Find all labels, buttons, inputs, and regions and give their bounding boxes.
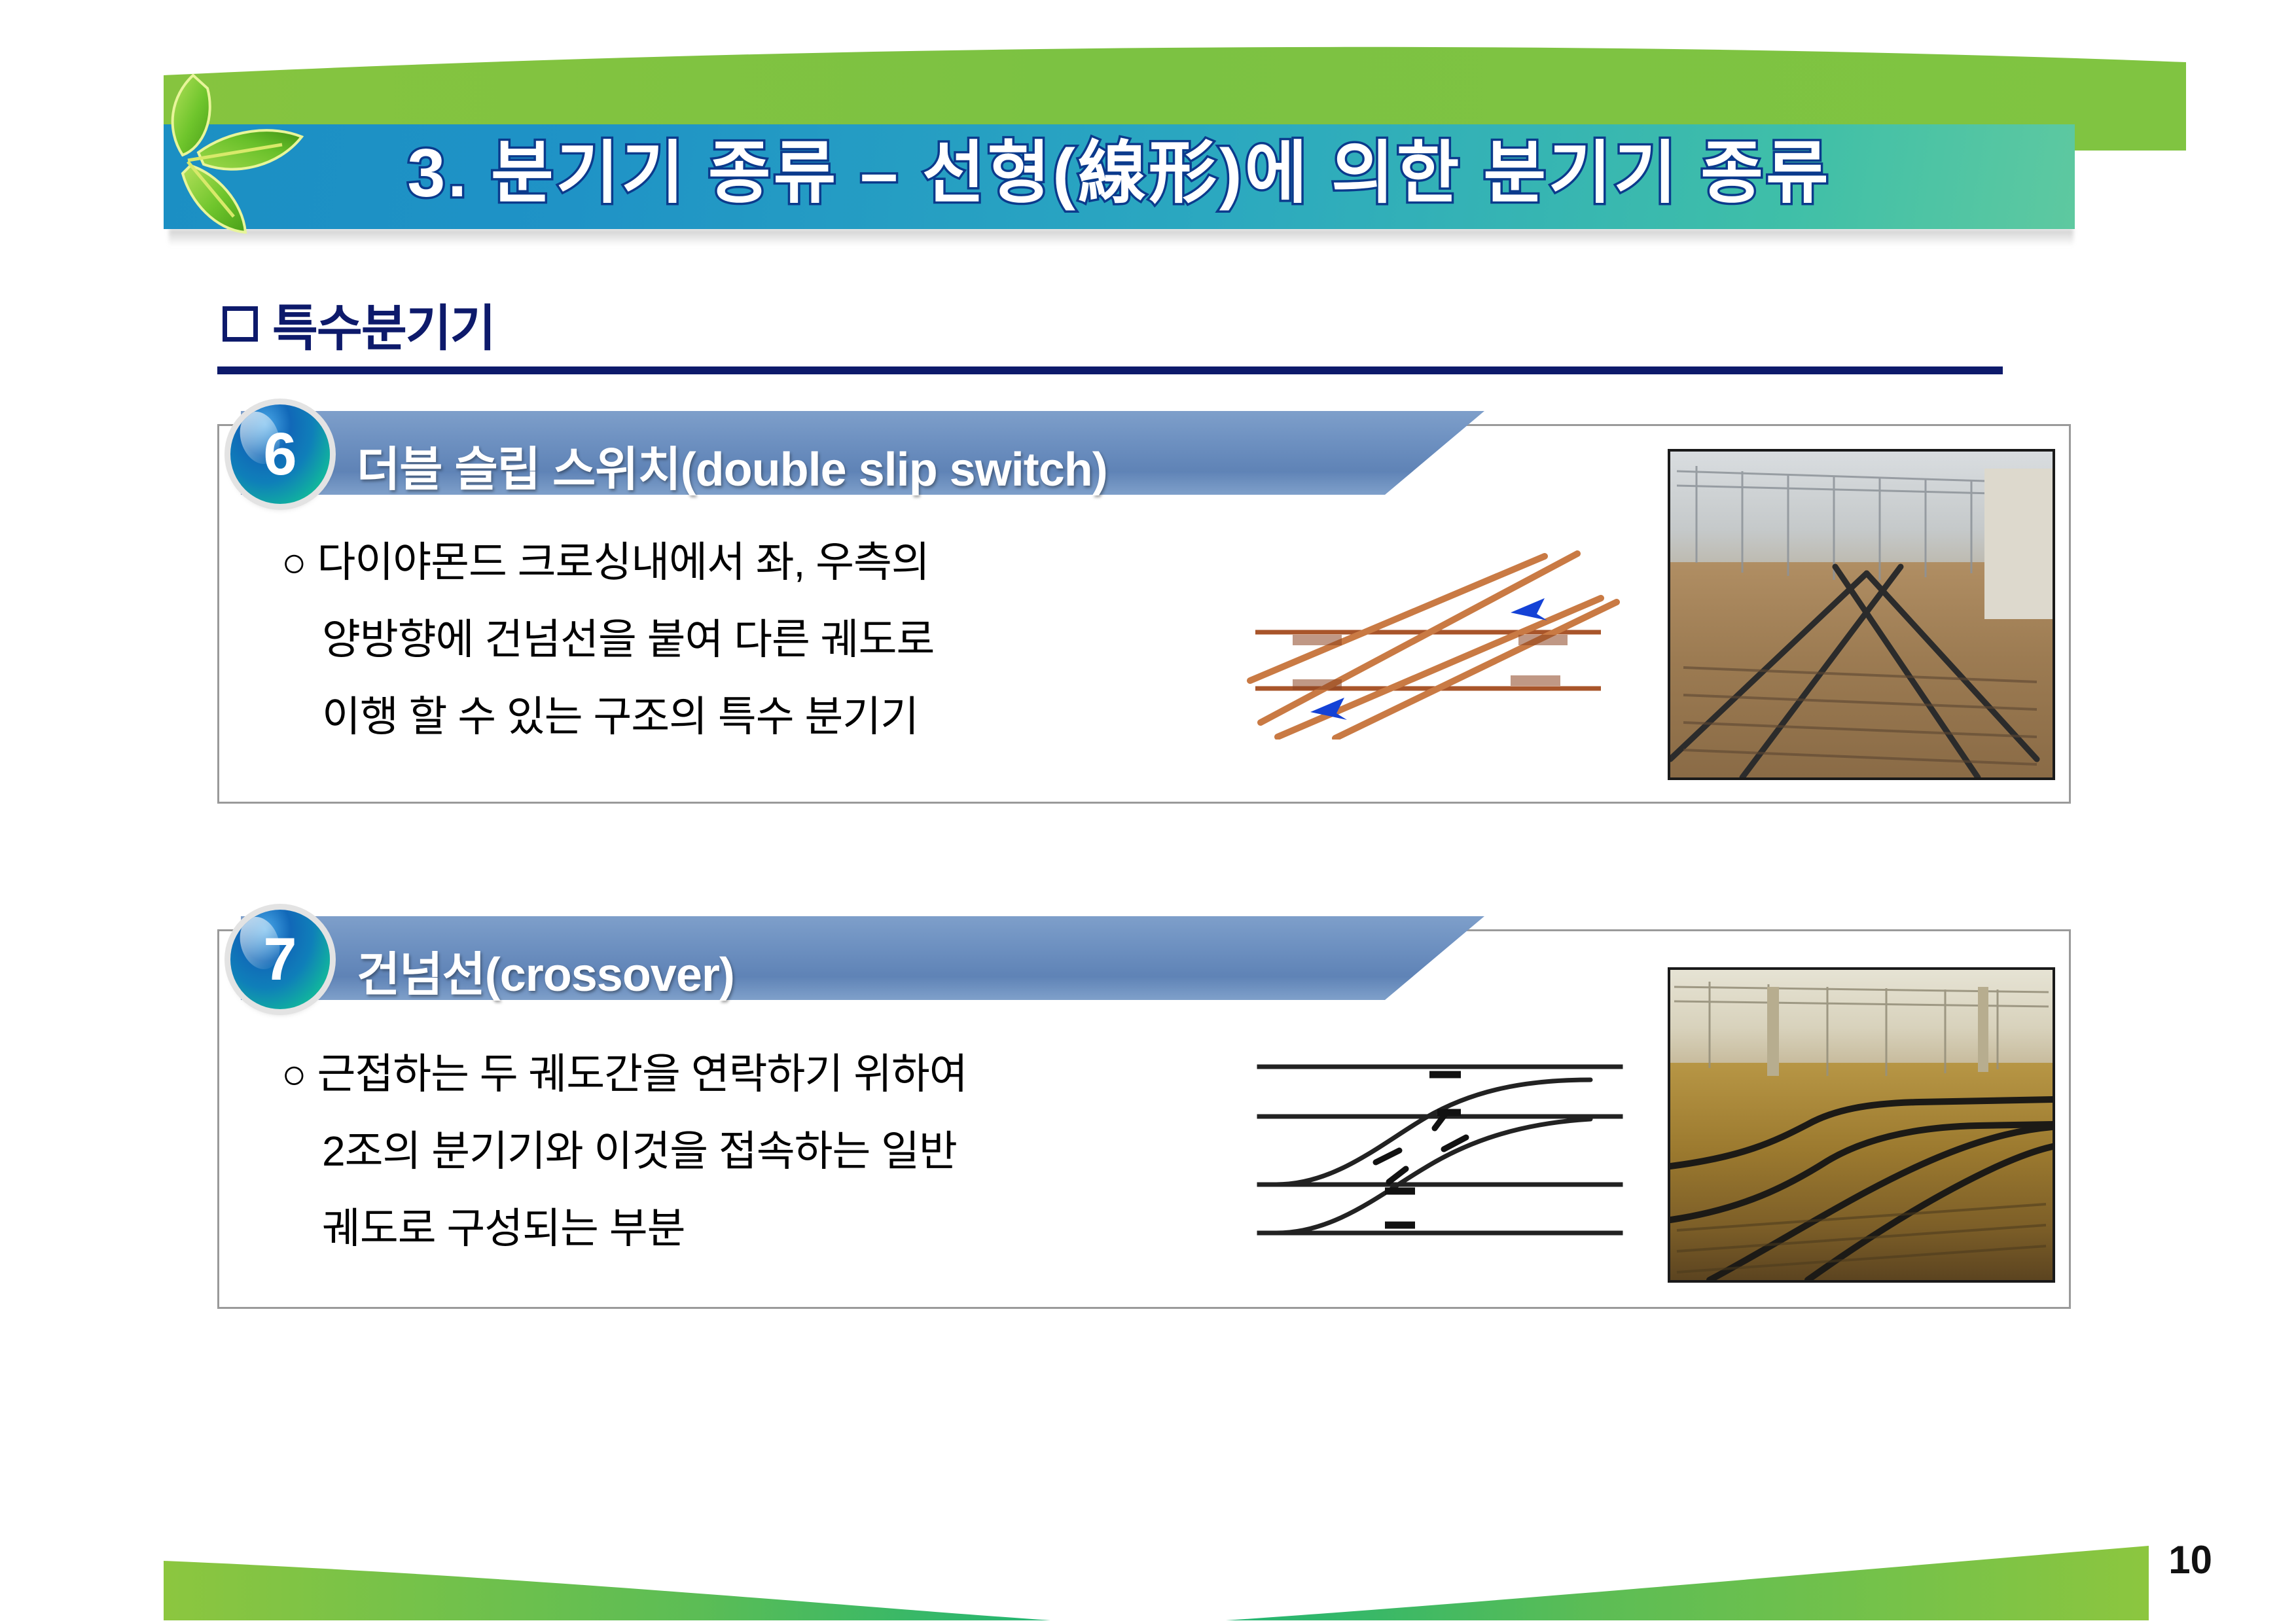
item-bullet-icon-7: ○	[281, 1050, 306, 1097]
item-title-7: 건넘선(crossover)	[357, 936, 734, 1005]
item-body-line: ○ 다이야몬드 크로싱내에서 좌, 우측의	[281, 524, 934, 601]
item-title-6: 더블 슬립 스위치(double slip switch)	[357, 431, 1107, 499]
item-body-line: ○ 근접하는 두 궤도간을 연락하기 위하여	[281, 1035, 967, 1113]
item-badge-6: 6	[230, 404, 330, 504]
section-divider	[217, 366, 2003, 374]
double-slip-switch-photo	[1668, 449, 2055, 780]
crossover-diagram	[1250, 1039, 1630, 1255]
item-badge-7: 7	[230, 910, 330, 1009]
item-body-text: 다이야몬드 크로싱내에서 좌, 우측의	[317, 539, 929, 586]
item-body-7: ○ 근접하는 두 궤도간을 연락하기 위하여 2조의 분기기와 이것을 접속하는…	[281, 1035, 967, 1267]
footer-wedge-left	[0, 1499, 1178, 1623]
section-heading: 특수분기기	[223, 288, 495, 360]
item-body-line: 이행 할 수 있는 구조의 특수 분기기	[281, 678, 934, 755]
header-bar-shadow	[169, 229, 2073, 246]
item-body-line: 궤도로 구성되는 부분	[281, 1190, 967, 1267]
item-body-6: ○ 다이야몬드 크로싱내에서 좌, 우측의 양방향에 건넘선을 붙여 다른 궤도…	[281, 524, 934, 755]
item-body-text: 근접하는 두 궤도간을 연락하기 위하여	[317, 1050, 967, 1097]
page-number: 10	[2168, 1537, 2212, 1582]
item-bullet-icon-6: ○	[281, 539, 306, 586]
slide-header: 3. 분기기 종류 – 선형(線形)에 의한 분기기 종류	[0, 0, 2296, 281]
footer-wedge-right	[1111, 1499, 2296, 1623]
leaf-cluster-icon	[147, 69, 337, 239]
item-number-7: 7	[230, 910, 330, 1009]
section-bullet-icon	[223, 306, 258, 342]
crossover-photo	[1668, 967, 2055, 1283]
item-body-line: 2조의 분기기와 이것을 접속하는 일반	[281, 1113, 967, 1190]
item-number-6: 6	[230, 404, 330, 504]
double-slip-switch-diagram	[1237, 550, 1643, 740]
item-body-line: 양방향에 건넘선을 붙여 다른 궤도로	[281, 601, 934, 678]
section-heading-label: 특수분기기	[272, 301, 495, 357]
page-title: 3. 분기기 종류 – 선형(線形)에 의한 분기기 종류	[164, 124, 2075, 229]
